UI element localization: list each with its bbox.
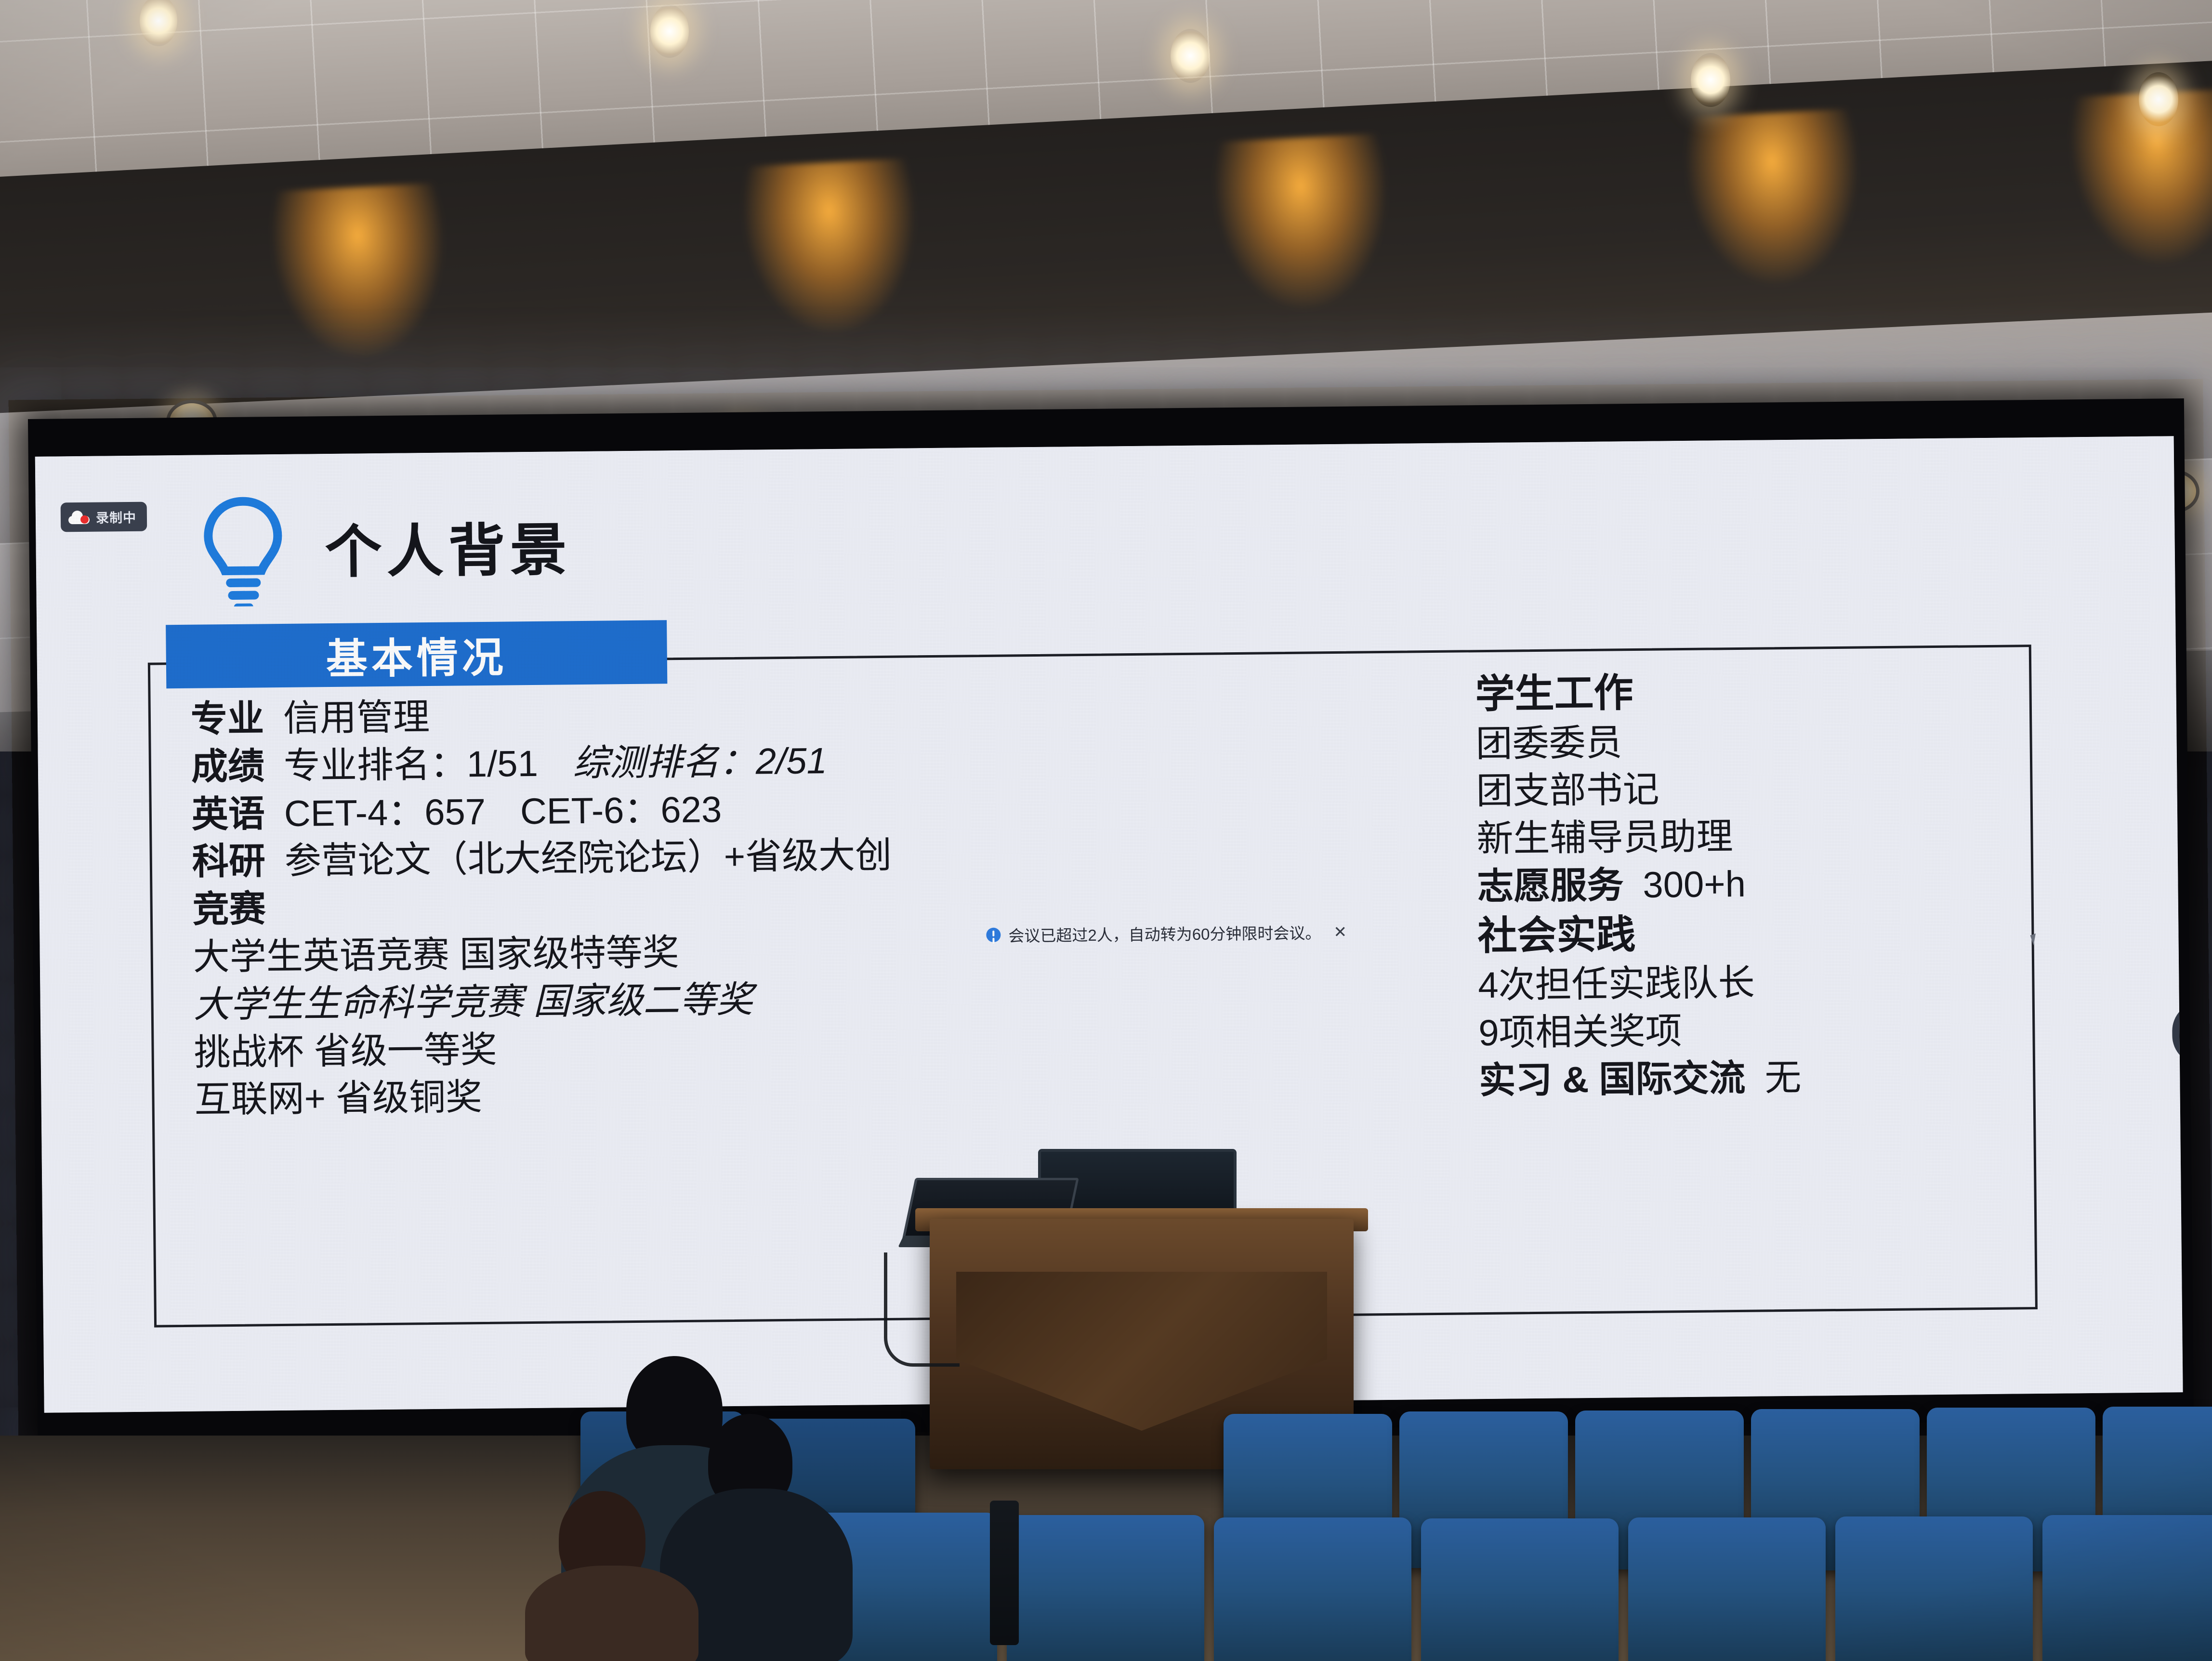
field-label: 成绩: [191, 746, 265, 787]
field-value: CET-4：657: [284, 791, 486, 834]
page-title: 个人背景: [325, 503, 572, 588]
cloud-record-icon: [68, 510, 90, 524]
auditorium-seat: [1214, 1517, 1411, 1661]
recording-label: 录制中: [96, 507, 136, 527]
field-label: 学生工作: [1475, 663, 2097, 721]
field-label: 社会实践: [1477, 905, 2099, 962]
field-label: 英语: [191, 793, 265, 835]
field-label: 志愿服务: [1477, 865, 1624, 907]
ceiling-light: [1171, 29, 1210, 83]
list-item: 团委委员: [1475, 714, 2097, 768]
auditorium-seat: [1007, 1515, 1204, 1661]
ceiling-light: [2139, 72, 2178, 126]
auditorium-seat: [1421, 1518, 1619, 1661]
lightbulb-icon: [195, 495, 292, 607]
field-value: 信用管理: [283, 697, 430, 739]
field-value: 参营论文（北大经院论坛）+省级大创: [284, 835, 892, 882]
list-item: 实习 & 国际交流无: [1479, 1052, 2101, 1105]
list-item: 志愿服务300+h: [1477, 857, 2099, 911]
list-item: 团支部书记: [1476, 762, 2098, 816]
field-value-secondary: 综测排名：2/51: [572, 740, 827, 784]
ceiling-light: [650, 5, 689, 58]
slide-right-column: 学生工作 团委委员 团支部书记 新生辅导员助理 志愿服务300+h 社会实践 4…: [1475, 663, 2101, 1105]
cables: [884, 1252, 960, 1367]
field-label: 科研: [192, 841, 265, 883]
section-header-banner: 基本情况: [166, 620, 667, 688]
list-item: 9项相关奖项: [1478, 1004, 2100, 1057]
list-item: 4次担任实践队长: [1478, 956, 2100, 1010]
auditorium-seat: [1628, 1517, 1826, 1661]
field-label: 专业: [191, 698, 264, 739]
field-label: 实习 & 国际交流: [1479, 1058, 1746, 1101]
auditorium-scene: 录制中 个人背景 会议已超过2人，自动转为60分钟限时会议。: [0, 0, 2212, 1661]
section-header-label: 基本情况: [326, 623, 507, 685]
seat-armrest: [990, 1501, 1019, 1645]
auditorium-seat: [2042, 1515, 2212, 1661]
field-value-secondary: CET-6：623: [520, 789, 722, 832]
recording-badge: 录制中: [61, 502, 147, 532]
slide-left-column: 专业信用管理 成绩专业排名：1/51综测排名：2/51 英语CET-4：657C…: [191, 685, 1384, 1124]
ceiling-light: [1691, 53, 1730, 107]
field-value: 300+h: [1643, 864, 1746, 906]
field-value: 无: [1764, 1057, 1802, 1099]
field-value: 专业排名：1/51: [284, 743, 539, 787]
audience-member-body: [525, 1566, 698, 1661]
sidebar-collapse-toggle[interactable]: [2172, 1002, 2183, 1065]
list-item: 新生辅导员助理: [1476, 810, 2098, 863]
auditorium-seat: [1835, 1516, 2033, 1661]
